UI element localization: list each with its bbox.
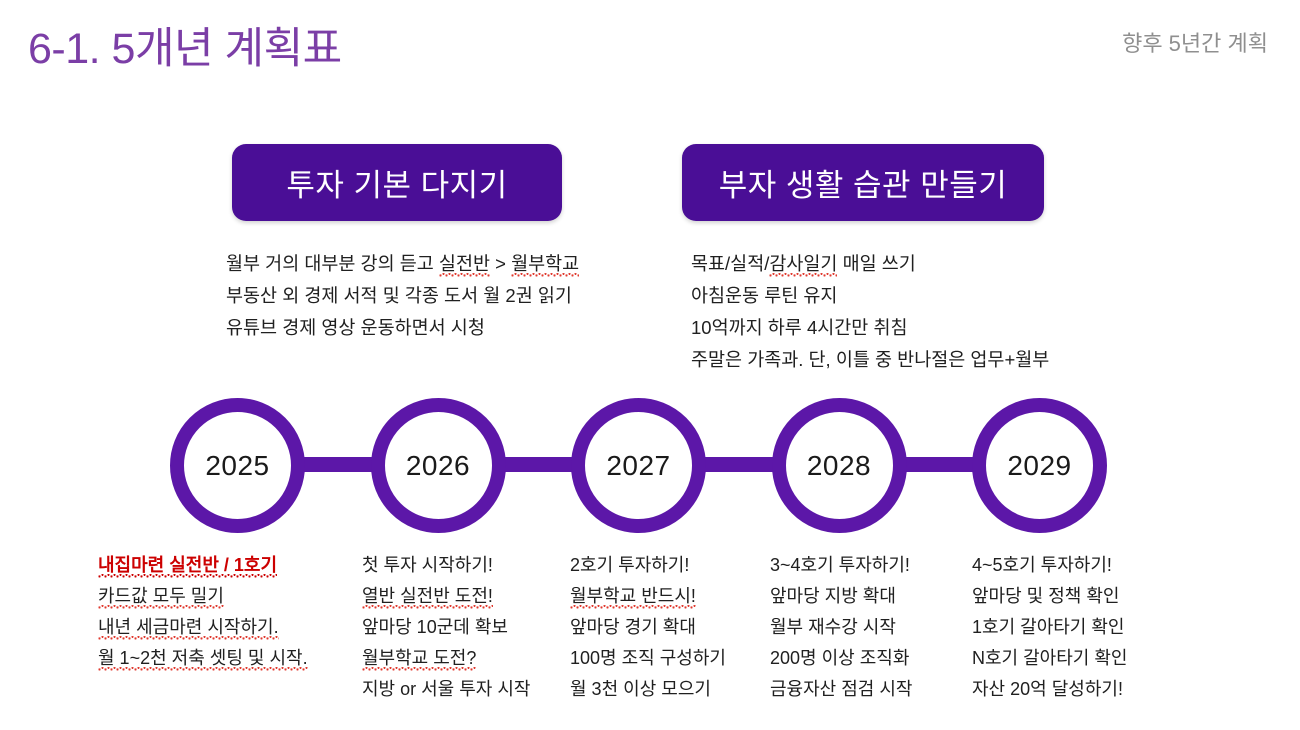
spellcheck-marked-text: 열반 실전반 도전! bbox=[362, 586, 493, 609]
bullet-text: 아침운동 루틴 유지 bbox=[691, 285, 837, 306]
year-plan-text: 지방 or 서울 투자 시작 bbox=[362, 679, 531, 699]
banner-label: 투자 기본 다지기 bbox=[286, 160, 507, 205]
year-plan-line: 내집마련 실전반 / 1호기 bbox=[98, 550, 308, 581]
year-plan-text: 1호기 갈아타기 확인 bbox=[972, 617, 1125, 637]
year-plan-text: 앞마당 경기 확대 bbox=[570, 617, 696, 637]
timeline-connector bbox=[293, 457, 383, 472]
year-plan-line: 4~5호기 투자하기! bbox=[972, 550, 1127, 581]
year-plan-line: 자산 20억 달성하기! bbox=[972, 674, 1127, 705]
year-plan-text: 금융자산 점검 시작 bbox=[770, 679, 912, 699]
bullet-list-investment-basics: 월부 거의 대부분 강의 듣고 실전반 > 월부학교부동산 외 경제 서적 및 … bbox=[226, 248, 579, 344]
year-plan-text: 자산 20억 달성하기! bbox=[972, 679, 1123, 699]
year-plan-text: 100명 조직 구성하기 bbox=[570, 648, 726, 668]
slide-canvas: 6-1. 5개년 계획표 향후 5년간 계획 투자 기본 다지기 부자 생활 습… bbox=[0, 0, 1300, 730]
timeline-connector bbox=[895, 457, 985, 472]
timeline-year-label: 2027 bbox=[606, 450, 670, 482]
bullet-text: > bbox=[490, 253, 511, 274]
timeline-node-2025: 2025 bbox=[170, 398, 305, 533]
year-plan-line: 앞마당 지방 확대 bbox=[770, 581, 912, 612]
year-plan-line: 첫 투자 시작하기! bbox=[362, 550, 531, 581]
year-column-2028: 3~4호기 투자하기!앞마당 지방 확대월부 재수강 시작200명 이상 조직화… bbox=[770, 550, 912, 705]
spellcheck-marked-text: 월부학교 도전? bbox=[362, 648, 476, 671]
year-plan-line: 앞마당 10군데 확보 bbox=[362, 612, 531, 643]
bullet-line: 월부 거의 대부분 강의 듣고 실전반 > 월부학교 bbox=[226, 248, 579, 280]
year-plan-line: N호기 갈아타기 확인 bbox=[972, 643, 1127, 674]
bullet-text: 매일 쓰기 bbox=[837, 253, 915, 274]
bullet-text: 주말은 가족과. 단, 이틀 중 반나절은 업무+월부 bbox=[691, 349, 1049, 370]
timeline-connector bbox=[694, 457, 784, 472]
year-plan-line: 2호기 투자하기! bbox=[570, 550, 726, 581]
bullet-line: 목표/실적/감사일기 매일 쓰기 bbox=[691, 248, 1049, 280]
banner-label: 부자 생활 습관 만들기 bbox=[719, 160, 1008, 205]
bullet-line: 유튜브 경제 영상 운동하면서 시청 bbox=[226, 312, 579, 344]
year-plan-line: 1호기 갈아타기 확인 bbox=[972, 612, 1127, 643]
year-plan-text: 4~5호기 투자하기! bbox=[972, 555, 1112, 575]
banner-rich-habits: 부자 생활 습관 만들기 bbox=[682, 144, 1044, 221]
year-plan-text: 월부 재수강 시작 bbox=[770, 617, 896, 637]
year-plan-line: 카드값 모두 밀기 bbox=[98, 581, 308, 612]
timeline: 20252026202720282029 bbox=[0, 398, 1300, 538]
year-plan-text: 2호기 투자하기! bbox=[570, 555, 689, 575]
bullet-line: 부동산 외 경제 서적 및 각종 도서 월 2권 읽기 bbox=[226, 280, 579, 312]
year-plan-line: 월 1~2천 저축 셋팅 및 시작. bbox=[98, 643, 308, 674]
timeline-node-2028: 2028 bbox=[772, 398, 907, 533]
year-plan-text: 첫 투자 시작하기! bbox=[362, 555, 493, 575]
year-plan-text: 200명 이상 조직화 bbox=[770, 648, 909, 668]
year-plan-text: 월 3천 이상 모으기 bbox=[570, 679, 711, 699]
bullet-line: 아침운동 루틴 유지 bbox=[691, 280, 1049, 312]
timeline-node-2027: 2027 bbox=[571, 398, 706, 533]
bullet-line: 10억까지 하루 4시간만 취침 bbox=[691, 312, 1049, 344]
spellcheck-marked-text: 월부학교 bbox=[511, 253, 579, 277]
bullet-text: 부동산 외 경제 서적 및 각종 도서 월 2권 읽기 bbox=[226, 285, 572, 306]
year-plan-line: 월부 재수강 시작 bbox=[770, 612, 912, 643]
timeline-year-label: 2026 bbox=[406, 450, 470, 482]
timeline-node-2026: 2026 bbox=[371, 398, 506, 533]
year-plan-line: 3~4호기 투자하기! bbox=[770, 550, 912, 581]
page-title: 6-1. 5개년 계획표 bbox=[28, 14, 342, 76]
timeline-year-label: 2029 bbox=[1007, 450, 1071, 482]
banner-investment-basics: 투자 기본 다지기 bbox=[232, 144, 562, 221]
slide-subtitle: 향후 5년간 계획 bbox=[1122, 26, 1268, 58]
year-plan-line: 월 3천 이상 모으기 bbox=[570, 674, 726, 705]
bullet-text: 월부 거의 대부분 강의 듣고 bbox=[226, 253, 439, 274]
year-plan-line: 월부학교 도전? bbox=[362, 643, 531, 674]
spellcheck-marked-text: 월부학교 반드시! bbox=[570, 586, 696, 609]
bullet-text: 목표/실적/ bbox=[691, 253, 769, 274]
year-plan-text: 앞마당 지방 확대 bbox=[770, 586, 896, 606]
year-plan-line: 내년 세금마련 시작하기. bbox=[98, 612, 308, 643]
spellcheck-marked-text: 카드값 모두 밀기 bbox=[98, 586, 224, 609]
timeline-year-label: 2025 bbox=[205, 450, 269, 482]
year-plan-line: 200명 이상 조직화 bbox=[770, 643, 912, 674]
year-column-2025: 내집마련 실전반 / 1호기카드값 모두 밀기내년 세금마련 시작하기.월 1~… bbox=[98, 550, 308, 674]
year-column-2026: 첫 투자 시작하기!열반 실전반 도전!앞마당 10군데 확보월부학교 도전?지… bbox=[362, 550, 531, 705]
year-plan-line: 월부학교 반드시! bbox=[570, 581, 726, 612]
year-plan-text: 앞마당 및 정책 확인 bbox=[972, 586, 1119, 606]
year-plan-text: 3~4호기 투자하기! bbox=[770, 555, 910, 575]
spellcheck-marked-text: 내집마련 실전반 / 1호기 bbox=[98, 555, 277, 578]
bullet-text: 유튜브 경제 영상 운동하면서 시청 bbox=[226, 317, 485, 338]
timeline-year-label: 2028 bbox=[807, 450, 871, 482]
timeline-node-2029: 2029 bbox=[972, 398, 1107, 533]
year-column-2029: 4~5호기 투자하기!앞마당 및 정책 확인1호기 갈아타기 확인N호기 갈아타… bbox=[972, 550, 1127, 705]
spellcheck-marked-text: 내년 세금마련 시작하기. bbox=[98, 617, 279, 640]
year-plan-line: 앞마당 경기 확대 bbox=[570, 612, 726, 643]
bullet-list-rich-habits: 목표/실적/감사일기 매일 쓰기아침운동 루틴 유지10억까지 하루 4시간만 … bbox=[691, 248, 1049, 376]
year-plan-line: 100명 조직 구성하기 bbox=[570, 643, 726, 674]
timeline-connector bbox=[494, 457, 584, 472]
spellcheck-marked-text: 실전반 bbox=[439, 253, 490, 277]
year-plan-text: 앞마당 10군데 확보 bbox=[362, 617, 508, 637]
bullet-text: 10억까지 하루 4시간만 취침 bbox=[691, 317, 908, 338]
bullet-line: 주말은 가족과. 단, 이틀 중 반나절은 업무+월부 bbox=[691, 344, 1049, 376]
year-column-2027: 2호기 투자하기!월부학교 반드시!앞마당 경기 확대100명 조직 구성하기월… bbox=[570, 550, 726, 705]
year-plan-line: 지방 or 서울 투자 시작 bbox=[362, 674, 531, 705]
year-plan-line: 금융자산 점검 시작 bbox=[770, 674, 912, 705]
year-plan-text: N호기 갈아타기 확인 bbox=[972, 648, 1127, 668]
year-plan-line: 열반 실전반 도전! bbox=[362, 581, 531, 612]
spellcheck-marked-text: 감사일기 bbox=[769, 253, 837, 277]
year-plan-line: 앞마당 및 정책 확인 bbox=[972, 581, 1127, 612]
spellcheck-marked-text: 월 1~2천 저축 셋팅 및 시작. bbox=[98, 648, 308, 671]
